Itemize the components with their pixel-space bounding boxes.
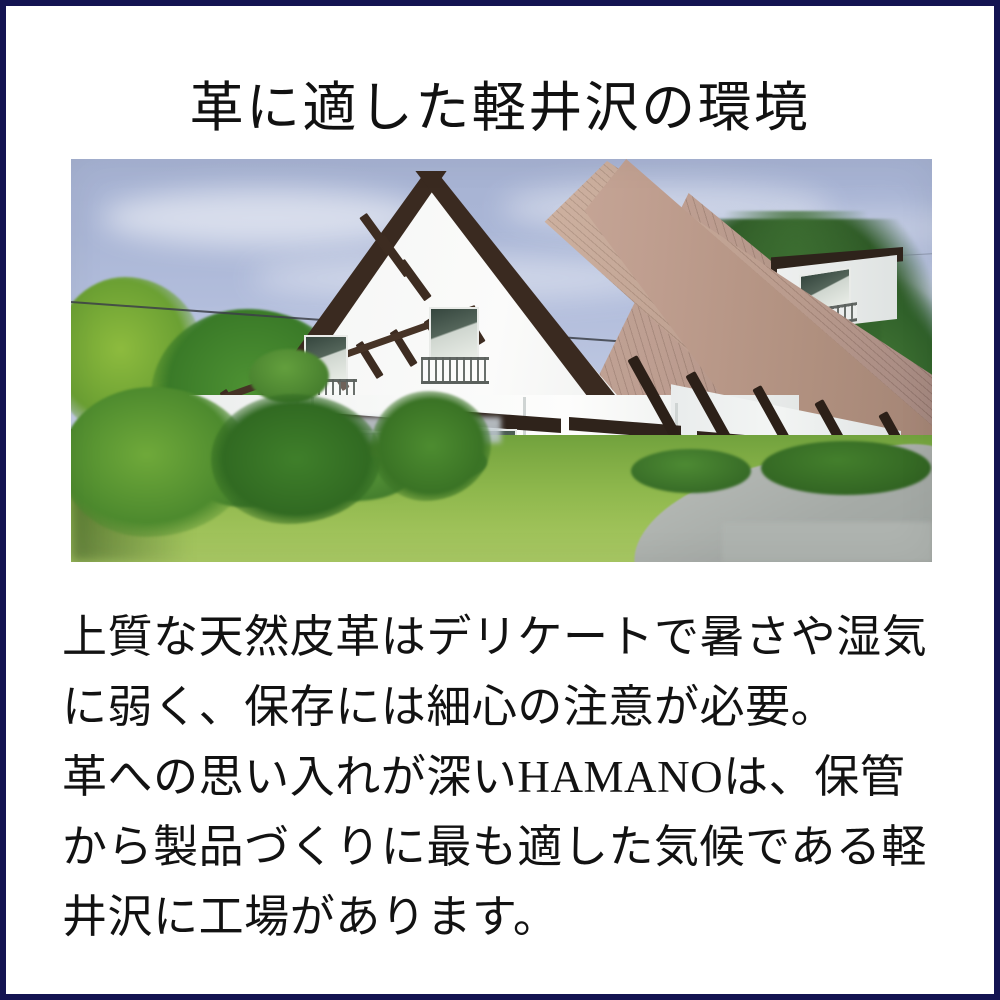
body-line: 井沢に工場があります。 [62,882,962,952]
upper-balcony-right [421,357,489,384]
garden-path [722,522,932,562]
shrub [631,449,751,493]
body-line: から製品づくりに最も適した気候である軽 [62,812,962,882]
page-title: 革に適した軽井沢の環境 [6,76,994,141]
upper-window-right [429,307,479,359]
factory-photo [71,159,932,562]
body-line: に弱く、保存には細心の注意が必要。 [62,672,962,742]
promo-card: 革に適した軽井沢の環境 [0,0,1000,1000]
body-line: 革への思い入れが深いHAMANOは、保管 [62,742,962,812]
photo-canvas [71,159,932,562]
shrub [761,441,931,495]
body-paragraph: 上質な天然皮革はデリケートで暑さや湿気 に弱く、保存には細心の注意が必要。 革へ… [62,602,962,952]
body-line: 上質な天然皮革はデリケートで暑さや湿気 [62,602,962,672]
